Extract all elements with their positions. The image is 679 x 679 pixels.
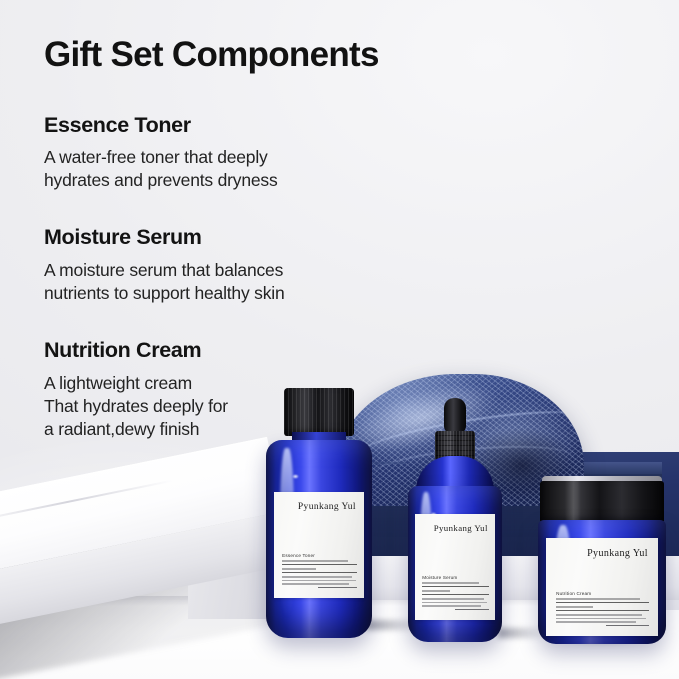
- label-text-line: [422, 602, 487, 603]
- label-text-line: [282, 583, 349, 584]
- section-line: a radiant,dewy finish: [44, 418, 464, 441]
- label-text-line: [556, 621, 636, 622]
- label-text-line: [455, 609, 488, 610]
- copy-block: Gift Set Components Essence Toner A wate…: [44, 36, 464, 441]
- section-nutrition-cream: Nutrition Cream A lightweight cream That…: [44, 338, 464, 441]
- label-product-name: Nutrition Cream: [556, 591, 649, 596]
- section-line: hydrates and prevents dryness: [44, 169, 464, 192]
- section-line: A water-free toner that deeply: [44, 146, 464, 169]
- label-rule: [282, 572, 357, 573]
- section-line: That hydrates deeply for: [44, 395, 464, 418]
- glass-specular: [292, 474, 299, 479]
- section-essence-toner: Essence Toner A water-free toner that de…: [44, 113, 464, 193]
- label-fine-print: Nutrition Cream: [556, 591, 649, 628]
- section-title-moisture-serum: Moisture Serum: [44, 225, 464, 250]
- product-label: Pyunkang Yul Nutrition Cream: [546, 538, 658, 636]
- label-text-line: [556, 618, 646, 619]
- label-text-line: [556, 606, 593, 608]
- label-text-line: [422, 582, 479, 584]
- label-text-line: [318, 587, 357, 588]
- page-title: Gift Set Components: [44, 36, 464, 75]
- product-label: Pyunkang Yul Essence Toner: [274, 492, 364, 598]
- brand-name: Pyunkang Yul: [434, 523, 488, 533]
- label-text-line: [422, 590, 450, 592]
- product-nutrition-cream: Pyunkang Yul Nutrition Cream: [538, 476, 666, 644]
- section-moisture-serum: Moisture Serum A moisture serum that bal…: [44, 225, 464, 305]
- label-text-line: [282, 568, 316, 570]
- label-text-line: [282, 576, 352, 577]
- section-line: nutrients to support healthy skin: [44, 282, 464, 305]
- label-text-line: [606, 625, 649, 626]
- label-text-line: [282, 580, 356, 581]
- jar-lid: [540, 481, 664, 523]
- label-rule: [556, 602, 649, 603]
- brand-name: Pyunkang Yul: [587, 548, 648, 559]
- product-marketing-image: Gift Set Components Essence Toner A wate…: [0, 0, 679, 679]
- section-line: A moisture serum that balances: [44, 259, 464, 282]
- label-rule: [422, 594, 488, 595]
- lid-highlight: [540, 481, 664, 523]
- product-label: Pyunkang Yul Moisture Serum: [415, 514, 495, 620]
- label-fine-print: Moisture Serum: [422, 575, 488, 612]
- label-text-line: [556, 614, 642, 615]
- label-text-line: [422, 598, 484, 599]
- section-line: A lightweight cream: [44, 372, 464, 395]
- label-text-line: [282, 560, 348, 562]
- label-product-name: Moisture Serum: [422, 575, 488, 580]
- label-text-line: [422, 605, 480, 606]
- label-rule: [556, 610, 649, 611]
- label-rule: [282, 564, 357, 565]
- brand-name: Pyunkang Yul: [298, 502, 356, 512]
- label-text-line: [556, 598, 640, 600]
- section-title-nutrition-cream: Nutrition Cream: [44, 338, 464, 363]
- label-product-name: Essence Toner: [282, 553, 357, 558]
- label-rule: [422, 586, 488, 587]
- section-title-essence-toner: Essence Toner: [44, 113, 464, 138]
- label-fine-print: Essence Toner: [282, 553, 357, 590]
